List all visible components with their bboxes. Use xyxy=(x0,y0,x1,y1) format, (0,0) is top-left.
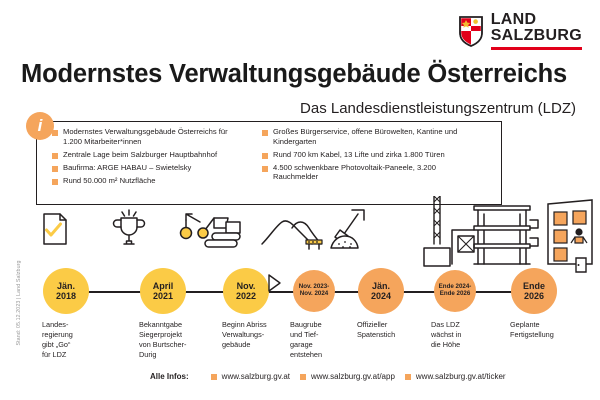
footer-link[interactable]: www.salzburg.gv.at/ticker xyxy=(405,372,506,381)
timeline-milestone-2[interactable]: April2021 xyxy=(140,268,186,314)
milestone-caption-5: Offizieller Spatenstich xyxy=(357,320,433,340)
bullet-square-icon xyxy=(262,130,268,136)
milestone-caption-4: Baugrube und Tief- garage entstehen xyxy=(290,320,366,360)
timeline-milestone-4[interactable]: Nov. 2023-Nov. 2024 xyxy=(293,270,335,312)
milestone-caption-7: Geplante Fertigstellung xyxy=(510,320,586,340)
footer-links: Alle Infos: www.salzburg.gv.atwww.salzbu… xyxy=(150,372,506,381)
milestone-line-1: Jän. xyxy=(57,281,75,291)
footer-link-url: www.salzburg.gv.at/app xyxy=(311,372,395,381)
trophy-icon xyxy=(114,210,145,244)
info-bullet: Modernstes Verwaltungsgebäude Österreich… xyxy=(52,127,248,146)
bullet-square-icon xyxy=(262,166,268,172)
milestone-line-2: 2021 xyxy=(153,291,173,301)
demolition-excavator-icon xyxy=(198,218,240,247)
info-bullet-text: Modernstes Verwaltungsgebäude Österreich… xyxy=(63,127,248,146)
bullet-square-icon xyxy=(52,179,58,185)
info-bullet-columns: Modernstes Verwaltungsgebäude Österreich… xyxy=(52,127,492,185)
milestone-caption-2: Bekanntgabe Siegerprojekt von Burtscher-… xyxy=(139,320,215,360)
info-bullet-text: Rund 700 km Kabel, 13 Lifte und zirka 1.… xyxy=(273,150,445,160)
footer-link[interactable]: www.salzburg.gv.at xyxy=(211,372,290,381)
infographic-page: LAND SALZBURG Modernstes Verwaltungsgebä… xyxy=(0,0,600,400)
bullet-square-icon xyxy=(262,153,268,159)
bullet-square-icon xyxy=(52,166,58,172)
milestone-line-1: Nov. xyxy=(237,281,256,291)
excavation-pit-icon xyxy=(262,221,322,249)
milestone-caption-3: Beginn Abriss Verwaltungs- gebäude xyxy=(222,320,298,350)
info-bullet: Baufirma: ARGE HABAU – Swietelsky xyxy=(52,163,248,173)
document-check-icon xyxy=(44,214,66,244)
shovel-groundbreaking-icon xyxy=(331,210,364,248)
bullet-square-icon xyxy=(52,153,58,159)
credit-text: Stand: 05.12.2023 | Land Salzburg xyxy=(16,248,22,358)
construction-illustration xyxy=(0,196,600,276)
logo-line-land: LAND xyxy=(491,12,582,28)
timeline-milestone-7[interactable]: Ende2026 xyxy=(511,268,557,314)
milestone-line-2: 2022 xyxy=(236,291,256,301)
footer-link[interactable]: www.salzburg.gv.at/app xyxy=(300,372,395,381)
bullet-square-icon xyxy=(211,374,217,380)
footer-link-url: www.salzburg.gv.at/ticker xyxy=(416,372,506,381)
bullet-column-left: Modernstes Verwaltungsgebäude Österreich… xyxy=(52,127,248,185)
building-frame-icon xyxy=(452,206,538,264)
milestone-line-2: Nov. 2024 xyxy=(300,291,328,298)
logo-wordmark: LAND SALZBURG xyxy=(491,12,582,50)
timeline-milestone-3[interactable]: Nov.2022 xyxy=(223,268,269,314)
info-bullet: 4.500 schwenkbare Photovoltaik-Paneele, … xyxy=(262,163,480,182)
bullet-square-icon xyxy=(300,374,306,380)
milestone-line-2: 2024 xyxy=(371,291,391,301)
logo-line-salzburg: SALZBURG xyxy=(491,28,582,44)
footer-label: Alle Infos: xyxy=(150,372,189,381)
milestone-line-2: 2018 xyxy=(56,291,76,301)
timeline-milestone-1[interactable]: Jän.2018 xyxy=(43,268,89,314)
logo-red-rule xyxy=(491,47,582,50)
info-bullet-text: Rund 50.000 m² Nutzfläche xyxy=(63,176,155,186)
finished-building-icon xyxy=(548,200,592,272)
wrecking-ball-icon xyxy=(181,214,201,239)
info-bullet: Großes Bürgerservice, offene Bürowelten,… xyxy=(262,127,480,146)
milestone-caption-6: Das LDZ wächst in die Höhe xyxy=(431,320,507,350)
info-bullet: Rund 700 km Kabel, 13 Lifte und zirka 1.… xyxy=(262,150,480,160)
page-title: Modernstes Verwaltungsgebäude Österreich… xyxy=(0,60,588,89)
info-bullet-text: Baufirma: ARGE HABAU – Swietelsky xyxy=(63,163,191,173)
page-subtitle: Das Landesdienstleistungszentrum (LDZ) xyxy=(300,100,576,117)
timeline-milestone-6[interactable]: Ende 2024-Ende 2026 xyxy=(434,270,476,312)
tower-crane-icon xyxy=(424,196,450,266)
footer-link-url: www.salzburg.gv.at xyxy=(222,372,290,381)
info-bullet: Zentrale Lage beim Salzburger Hauptbahnh… xyxy=(52,150,248,160)
bullet-square-icon xyxy=(405,374,411,380)
land-salzburg-logo: LAND SALZBURG xyxy=(458,12,582,50)
milestone-line-1: Jän. xyxy=(372,281,390,291)
milestone-line-2: Ende 2026 xyxy=(440,291,471,298)
footer-link-list: www.salzburg.gv.atwww.salzburg.gv.at/app… xyxy=(201,372,506,381)
info-bullet-text: Zentrale Lage beim Salzburger Hauptbahnh… xyxy=(63,150,217,160)
salzburg-coat-of-arms-icon xyxy=(458,15,484,47)
info-bullet: Rund 50.000 m² Nutzfläche xyxy=(52,176,248,186)
milestone-line-1: Ende xyxy=(523,281,545,291)
info-bullet-text: Großes Bürgerservice, offene Bürowelten,… xyxy=(273,127,480,146)
milestone-line-2: 2026 xyxy=(524,291,544,301)
milestone-caption-1: Landes- regierung gibt „Go“ für LDZ xyxy=(42,320,118,360)
milestone-line-1: April xyxy=(153,281,174,291)
info-icon: i xyxy=(26,112,54,140)
timeline-milestone-5[interactable]: Jän.2024 xyxy=(358,268,404,314)
info-bullet-text: 4.500 schwenkbare Photovoltaik-Paneele, … xyxy=(273,163,480,182)
bullet-column-right: Großes Bürgerservice, offene Bürowelten,… xyxy=(262,127,480,185)
